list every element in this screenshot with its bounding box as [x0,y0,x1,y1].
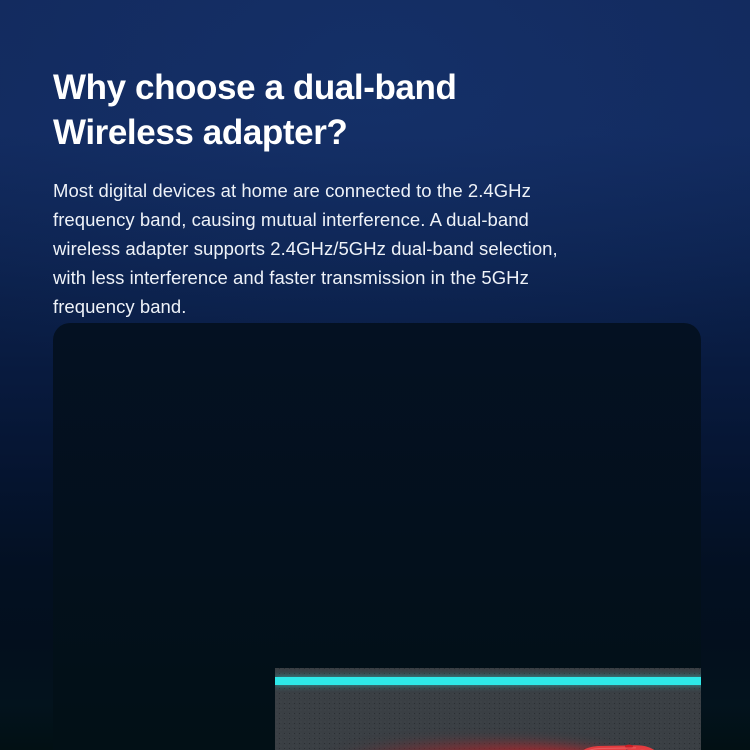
car-icon-fast [570,742,666,750]
page-title-line-1: Why choose a dual-band [53,66,673,111]
page-title: Why choose a dual-band Wireless adapter? [53,66,673,156]
illustration-card: 5GHz [53,323,701,750]
description-line-4: with less interference and faster transm… [53,263,653,292]
description-paragraph: Most digital devices at home are connect… [53,176,653,322]
page-background: Why choose a dual-band Wireless adapter?… [0,0,750,750]
page-title-line-2: Wireless adapter? [53,111,673,156]
road-lane-5ghz [275,668,701,750]
description-line-5: frequency band. [53,292,653,321]
lane-stripe-cyan-top [275,677,701,685]
description-line-1: Most digital devices at home are connect… [53,176,653,205]
description-line-2: frequency band, causing mutual interfere… [53,205,653,234]
description-line-3: wireless adapter supports 2.4GHz/5GHz du… [53,234,653,263]
